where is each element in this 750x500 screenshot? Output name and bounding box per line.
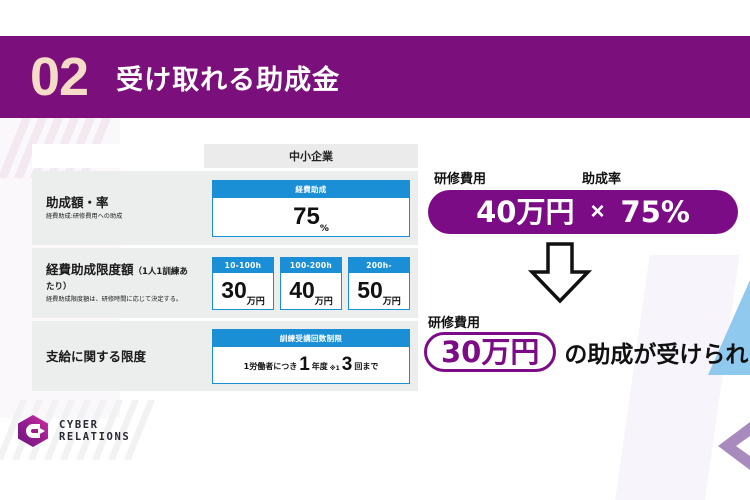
result-row: 30万円 の助成が受けられる [424,332,750,372]
row-body-payment-limit: 訓練受講回数制限 1労働者につき 1 年度 ※1 3 回まで [204,321,418,391]
result-amount: 30万円 [441,338,539,367]
card-value: 30 万円 [213,273,273,309]
card-value: 40 万円 [281,273,341,309]
table-corner-cell [32,144,204,168]
limit-unit-year: 年度 [312,361,328,374]
limit-prefix: 1労働者につき [244,361,298,374]
calculation-operator: × [590,200,604,224]
card-value-number: 30 [221,279,247,302]
card-value-number: 50 [357,279,383,302]
result-pill: 30万円 [424,332,556,372]
card-training-count-limit: 訓練受講回数制限 1労働者につき 1 年度 ※1 3 回まで [212,329,410,384]
limit-suffix: 回まで [354,361,378,374]
table-row: 助成額・率 経費助成:研修費用への助成 経費助成 75 % [32,171,418,245]
subsidy-table: 中小企業 助成額・率 経費助成:研修費用への助成 経費助成 75 % [32,144,418,391]
calculation-labels: 研修費用 助成率 [428,168,738,190]
card-hours-200-plus: 200h- 50 万円 [348,257,410,310]
brand-name-line2: RELATIONS [59,431,130,443]
calculation-amount: 40万円 [476,198,574,227]
card-caption: 10-100h [213,258,273,273]
card-expense-subsidy: 経費助成 75 % [212,180,410,237]
page-title: 受け取れる助成金 [116,58,340,97]
table-row: 経費助成限度額（1人1訓練あたり） 経費助成限度額は、研修時間に応じて決定する。… [32,248,418,318]
row-label-payment-limit: 支給に関する限度 [32,321,204,391]
row-sublabel-text: 経費助成限度額は、研修時間に応じて決定する。 [46,296,196,304]
calculation-panel: 研修費用 助成率 40万円 × 75% [428,168,738,234]
result-tail-text: の助成が受けられる [564,335,750,369]
card-hours-10-100: 10-100h 30 万円 [212,257,274,310]
limit-number-times: 3 [342,355,353,374]
card-value-unit: 万円 [247,294,265,309]
card-caption: 200h- [349,258,409,273]
card-value: 50 万円 [349,273,409,309]
row-label-text: 助成額・率 [46,195,109,210]
table-row: 支給に関する限度 訓練受講回数制限 1労働者につき 1 年度 ※1 3 回まで [32,321,418,391]
card-value-unit: 万円 [315,294,333,309]
card-value-unit: 万円 [383,294,401,309]
result-label: 研修費用 [424,312,750,331]
row-sublabel-text: 経費助成:研修費用への助成 [46,213,196,221]
card-caption: 100-200h [281,258,341,273]
row-body-expense-cap: 10-100h 30 万円 100-200h 40 万円 200h- [204,248,418,318]
card-value-number: 40 [289,279,315,302]
result-panel: 研修費用 30万円 の助成が受けられる [424,312,750,372]
cyber-relations-hex-logo-icon [16,414,50,448]
table-column-header-sme: 中小企業 [204,144,418,168]
row-body-subsidy-rate: 経費助成 75 % [204,171,418,245]
card-value: 75 % [213,198,409,236]
limit-sentence: 1労働者につき 1 年度 ※1 3 回まで [244,355,379,374]
label-training-cost: 研修費用 [428,168,582,187]
card-caption: 経費助成 [213,181,409,198]
calculation-rate: 75% [620,198,689,227]
card-value: 1労働者につき 1 年度 ※1 3 回まで [213,347,409,383]
limit-footnote-marker: ※1 [330,365,340,374]
card-value-unit: % [320,224,329,236]
decorative-wedge-right [614,255,739,500]
section-number: 02 [30,50,88,104]
card-value-number: 75 [293,205,320,229]
brand-logo-text: CYBER RELATIONS [59,419,130,444]
down-arrow-icon [527,242,593,304]
decorative-chevron-icon [694,420,750,472]
card-caption: 訓練受講回数制限 [213,330,409,347]
card-hours-100-200: 100-200h 40 万円 [280,257,342,310]
brand-name-line1: CYBER [59,419,130,431]
row-label-text: 支給に関する限度 [46,349,146,364]
label-subsidy-rate: 助成率 [582,168,621,187]
limit-number-year: 1 [299,355,310,374]
row-label-text: 経費助成限度額 [46,262,134,277]
brand-logo: CYBER RELATIONS [16,414,130,448]
table-header-row: 中小企業 [32,144,418,168]
row-label-subsidy-rate: 助成額・率 経費助成:研修費用への助成 [32,171,204,245]
calculation-pill: 40万円 × 75% [428,190,738,234]
slide-canvas: 02 受け取れる助成金 中小企業 助成額・率 経費助成:研修費用への助成 経費助… [0,0,750,500]
slide-header: 02 受け取れる助成金 [0,36,750,118]
row-label-expense-cap: 経費助成限度額（1人1訓練あたり） 経費助成限度額は、研修時間に応じて決定する。 [32,248,204,318]
